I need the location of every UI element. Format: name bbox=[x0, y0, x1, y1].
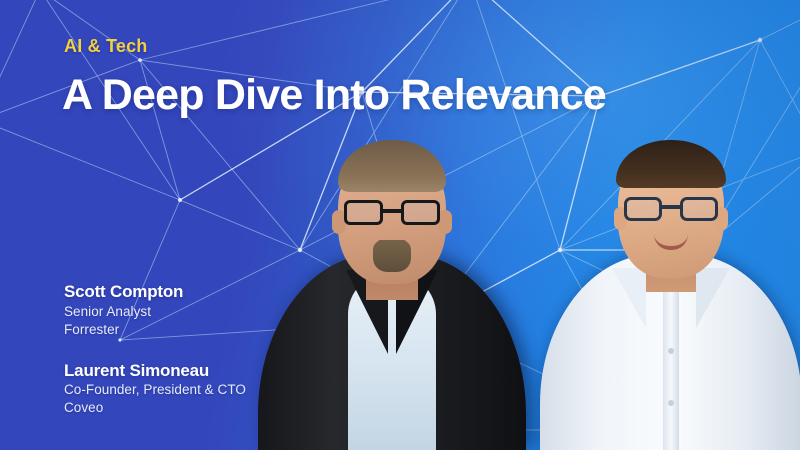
speaker-entry: Scott Compton Senior Analyst Forrester bbox=[64, 282, 294, 339]
eyeglass-bridge bbox=[662, 205, 680, 209]
webinar-promo-banner: AI & Tech A Deep Dive Into Relevance Sco… bbox=[0, 0, 800, 450]
speaker-organization: Coveo bbox=[64, 399, 294, 417]
speaker-role: Senior Analyst bbox=[64, 303, 294, 321]
shirt-placket bbox=[663, 272, 679, 450]
hair-shape bbox=[338, 140, 446, 192]
ear-right bbox=[438, 210, 452, 234]
eyeglass-bridge bbox=[383, 209, 401, 213]
speaker-portrait-scott-compton bbox=[258, 120, 526, 450]
speaker-entry: Laurent Simoneau Co-Founder, President &… bbox=[64, 361, 294, 418]
eyeglasses-icon bbox=[624, 197, 718, 222]
eyeglass-lens-left bbox=[624, 197, 662, 221]
goatee-beard-shape bbox=[373, 240, 411, 272]
category-eyebrow: AI & Tech bbox=[64, 36, 147, 57]
shirt-collar-left bbox=[612, 268, 646, 328]
speaker-portrait-laurent-simoneau bbox=[540, 112, 800, 450]
eyeglass-lens-left bbox=[344, 200, 383, 225]
eyeglasses-icon bbox=[344, 200, 440, 226]
speaker-name: Scott Compton bbox=[64, 282, 294, 303]
page-title: A Deep Dive Into Relevance bbox=[62, 71, 606, 120]
shirt-button-lower bbox=[668, 400, 674, 406]
eyeglass-lens-right bbox=[680, 197, 718, 221]
eyeglass-lens-right bbox=[401, 200, 440, 225]
speaker-organization: Forrester bbox=[64, 321, 294, 339]
speaker-list: Scott Compton Senior Analyst Forrester L… bbox=[64, 282, 294, 417]
hair-shape bbox=[616, 140, 726, 188]
shirt-collar-right bbox=[696, 268, 730, 328]
speaker-role: Co-Founder, President & CTO bbox=[64, 381, 294, 399]
shirt-button-upper bbox=[668, 348, 674, 354]
speaker-name: Laurent Simoneau bbox=[64, 361, 294, 382]
